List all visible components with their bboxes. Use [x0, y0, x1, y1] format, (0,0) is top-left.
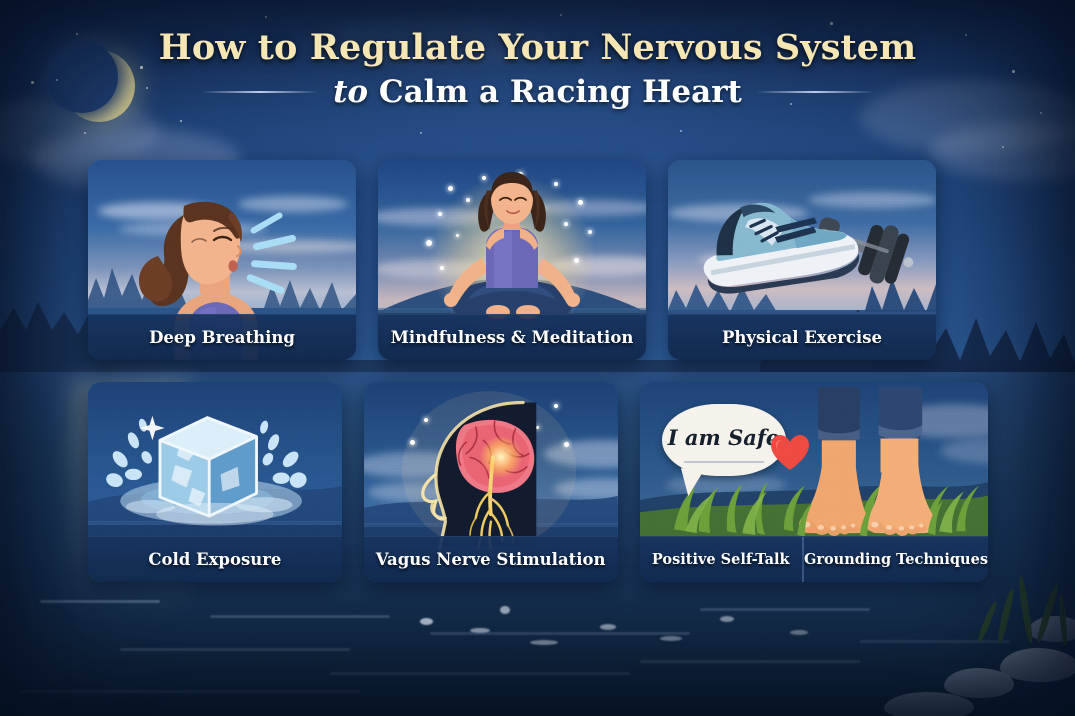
subtitle-rest: Calm a Racing Heart [368, 74, 742, 110]
subtitle-row: to Calm a Racing Heart [0, 74, 1075, 110]
label-half-right: Grounding Techniques [804, 537, 988, 582]
rule-left [201, 91, 319, 93]
card-label: Mindfulness & Meditation [391, 328, 634, 347]
card-label-bar: Mindfulness & Meditation [378, 314, 646, 360]
card-row-1: Deep Breathing [88, 160, 988, 360]
card-label-bar-split: Positive Self-Talk Grounding Techniques [640, 536, 988, 582]
page-subtitle: to Calm a Racing Heart [333, 74, 742, 110]
card-label: Physical Exercise [722, 328, 882, 347]
card-label: Vagus Nerve Stimulation [376, 550, 606, 569]
card-vagus-nerve-stimulation[interactable]: Vagus Nerve Stimulation [364, 382, 618, 582]
label-half-left: Positive Self-Talk [640, 537, 802, 582]
card-positive-self-talk-grounding[interactable]: I am Safe Positive Self-Talk [640, 382, 988, 582]
card-mindfulness-meditation[interactable]: Mindfulness & Meditation [378, 160, 646, 360]
card-label-right: Grounding Techniques [804, 551, 988, 568]
card-deep-breathing[interactable]: Deep Breathing [88, 160, 356, 360]
title-block: How to Regulate Your Nervous System to C… [0, 27, 1075, 110]
card-label-left: Positive Self-Talk [652, 551, 790, 568]
card-label-bar: Physical Exercise [668, 314, 936, 360]
card-row-2: Cold Exposure [88, 382, 988, 582]
card-cold-exposure[interactable]: Cold Exposure [88, 382, 342, 582]
technique-card-grid: Deep Breathing [88, 160, 988, 582]
subtitle-italic-word: to [333, 74, 368, 110]
page-title: How to Regulate Your Nervous System [0, 27, 1075, 70]
card-label: Deep Breathing [149, 328, 295, 347]
rule-right [756, 91, 874, 93]
card-label-bar: Deep Breathing [88, 314, 356, 360]
card-label-bar: Cold Exposure [88, 536, 342, 582]
card-label: Cold Exposure [148, 550, 281, 569]
infographic-canvas: How to Regulate Your Nervous System to C… [0, 0, 1075, 716]
card-physical-exercise[interactable]: Physical Exercise [668, 160, 936, 360]
card-label-bar: Vagus Nerve Stimulation [364, 536, 618, 582]
